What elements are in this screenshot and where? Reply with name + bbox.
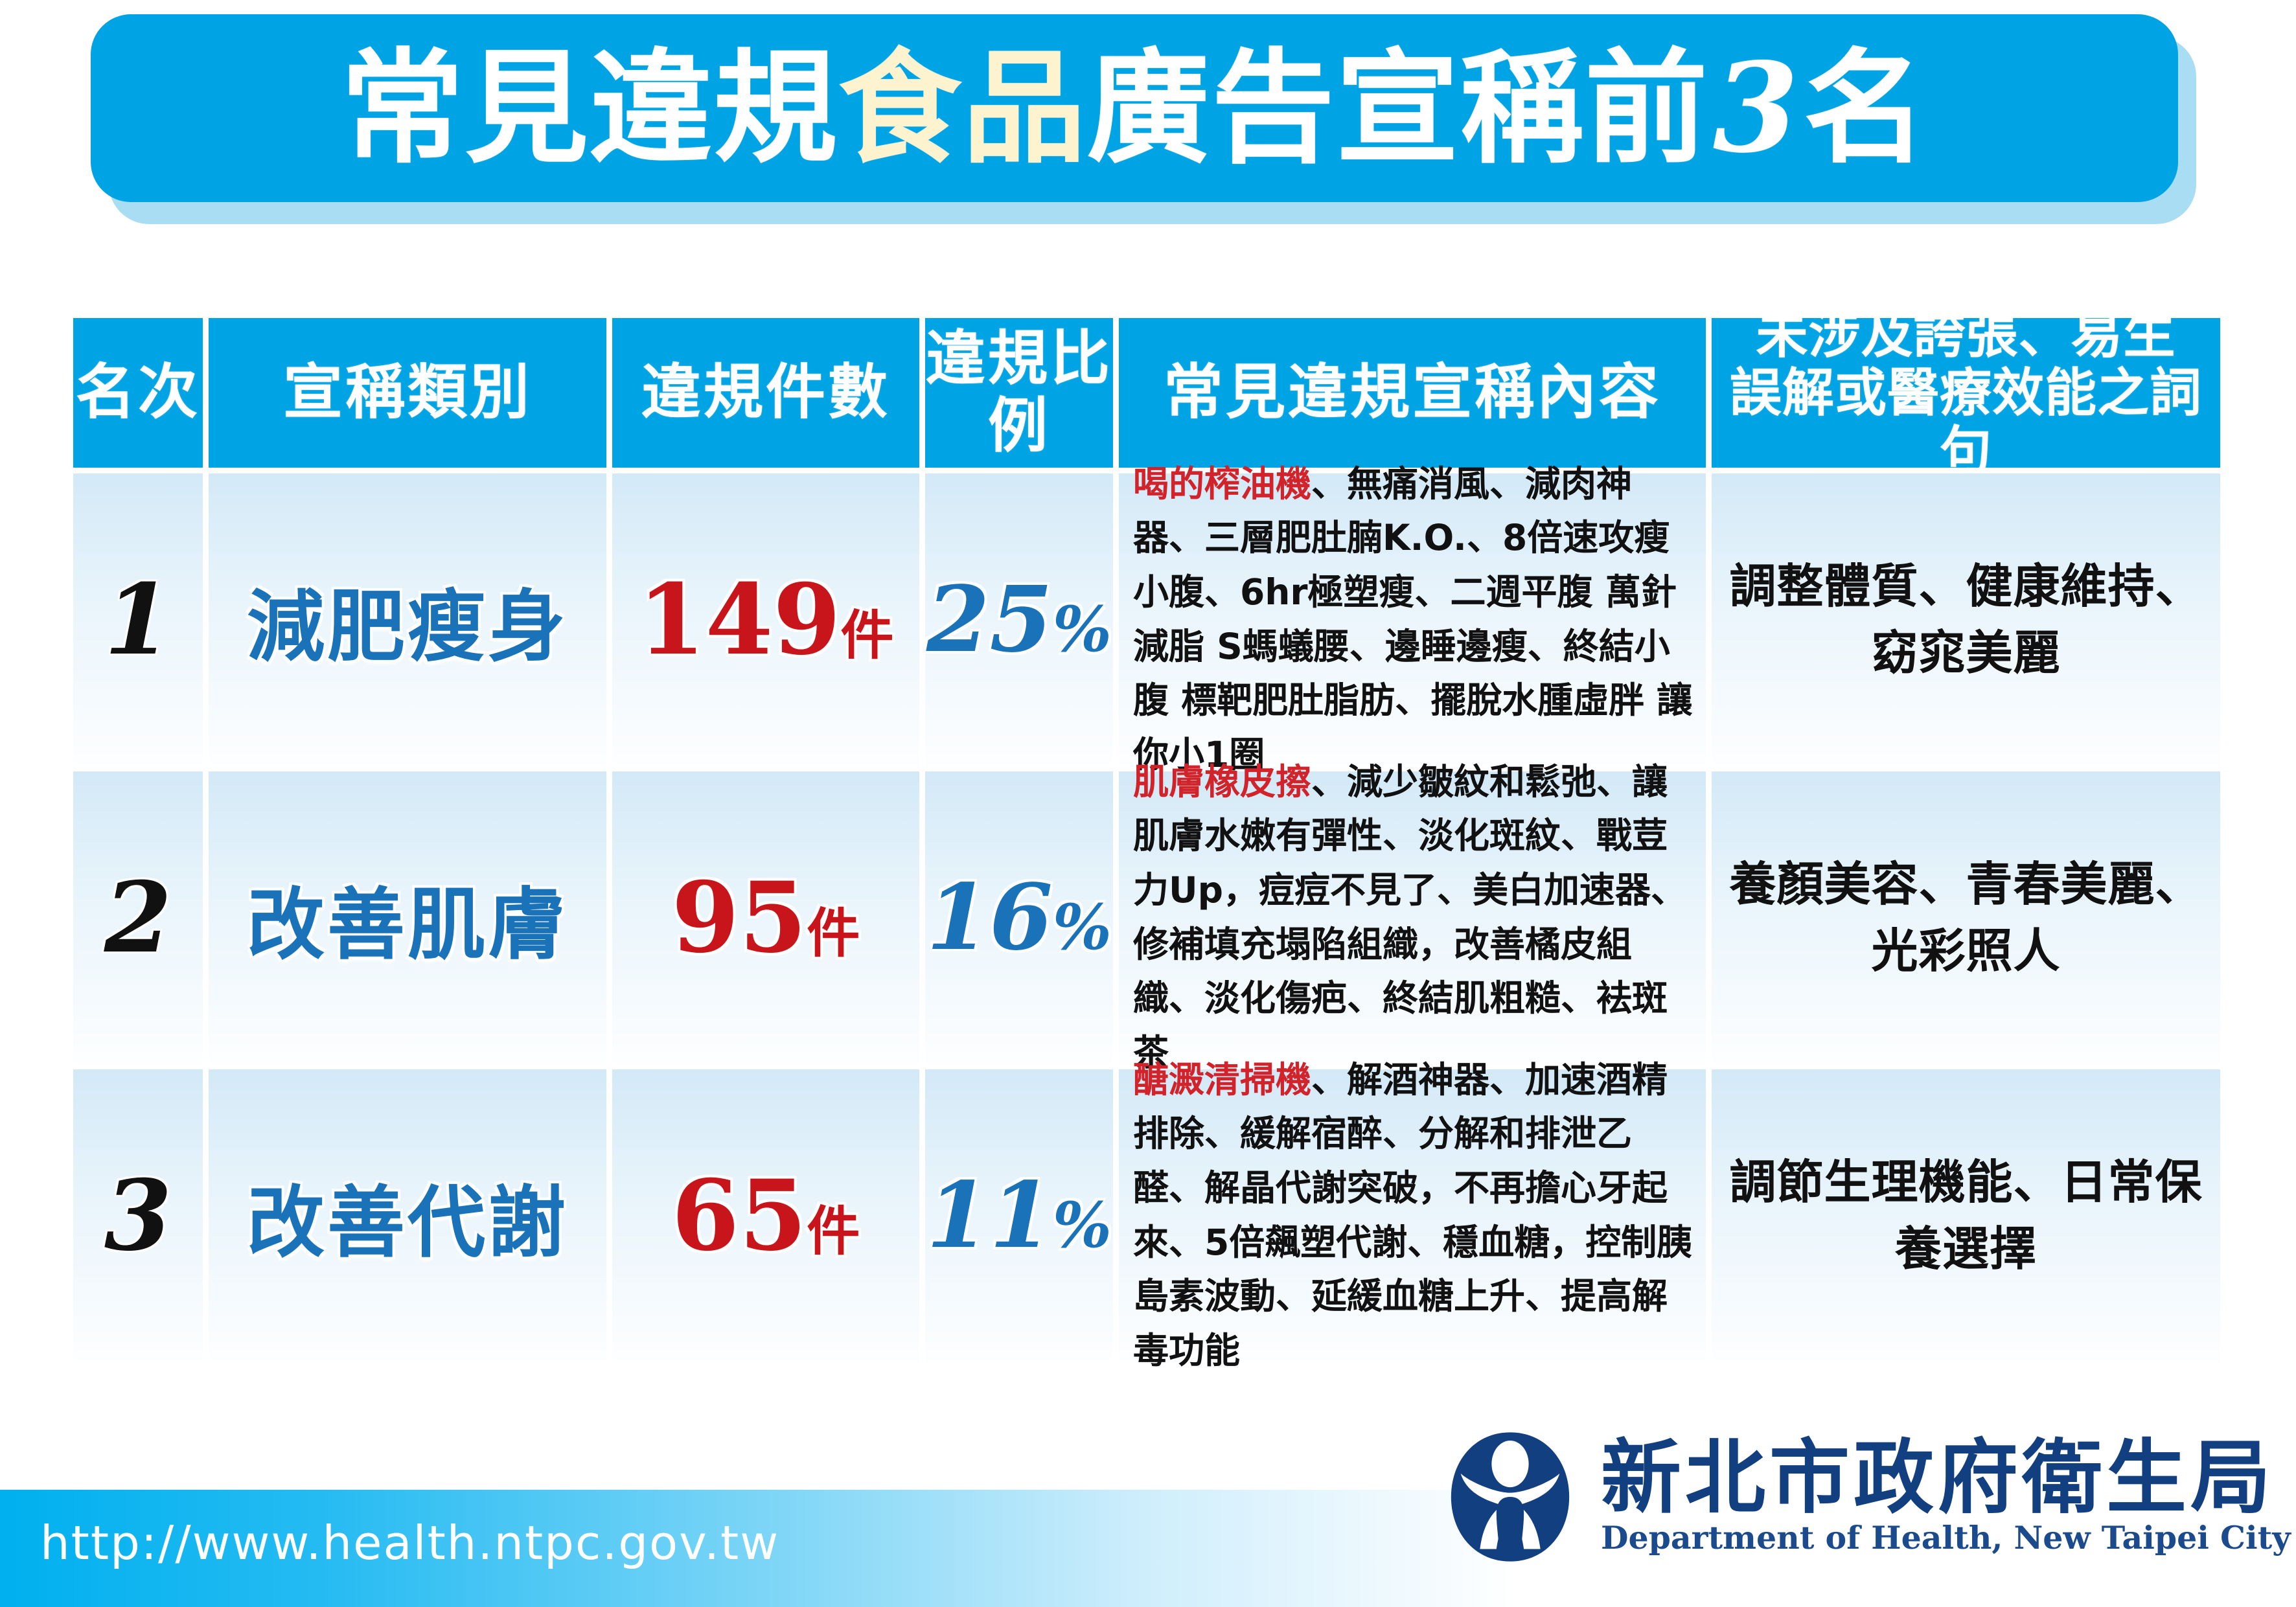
table-header-row: 名次 宣稱類別 違規件數 違規比例 常見違規宣稱內容 未涉及誇張、易生 誤解或醫… (73, 318, 2242, 468)
content-rest: 、無痛消風、減肉神器、三層肥肚腩K.O.、8倍速攻瘦小腹、6hr極塑瘦、二週平腹… (1133, 463, 1692, 775)
category-value: 改善肌膚 (247, 861, 568, 974)
health-department-logo-icon (1441, 1428, 1579, 1566)
table-row: 1 減肥瘦身 149件 25% 喝的榨油機、無痛消風、減肉神器、三層肥肚腩K.O… (73, 473, 2242, 766)
content-text: 醣澱清掃機、解酒神器、加速酒精排除、緩解宿醉、分解和排泄乙醛、解晶代謝突破，不再… (1119, 1049, 1706, 1382)
count-unit: 件 (841, 605, 894, 667)
organization-logo-block: 新北市政府衛生局 Department of Health, New Taipe… (1441, 1428, 2296, 1566)
org-name-chinese: 新北市政府衛生局 (1601, 1438, 2296, 1518)
content-rest: 、減少皺紋和鬆弛、讓肌膚水嫩有彈性、淡化斑紋、戰荳力Up，痘痘不見了、美白加速器… (1133, 761, 1686, 1073)
title-suffix: 名 (1804, 37, 1928, 180)
cell-content: 肌膚橡皮擦、減少皺紋和鬆弛、讓肌膚水嫩有彈性、淡化斑紋、戰荳力Up，痘痘不見了、… (1119, 771, 1706, 1064)
cell-rank: 3 (73, 1069, 203, 1362)
website-url[interactable]: http://www.health.ntpc.gov.tw (40, 1516, 779, 1570)
table-row: 3 改善代謝 65件 11% 醣澱清掃機、解酒神器、加速酒精排除、緩解宿醉、分解… (73, 1069, 2242, 1362)
ratio-value: 16% (926, 865, 1112, 971)
header-allowed-wording: 未涉及誇張、易生 誤解或醫療效能之詞句 (1712, 318, 2220, 468)
ratio-number: 11 (926, 1163, 1053, 1269)
content-text: 喝的榨油機、無痛消風、減肉神器、三層肥肚腩K.O.、8倍速攻瘦小腹、6hr極塑瘦… (1119, 453, 1706, 786)
cell-category: 改善代謝 (209, 1069, 606, 1362)
category-value: 減肥瘦身 (247, 564, 568, 676)
content-highlight: 醣澱清掃機 (1133, 1059, 1311, 1100)
ratio-value: 11% (926, 1163, 1112, 1269)
title-highlight: 食品 (838, 37, 1087, 180)
ratio-number: 16 (926, 865, 1053, 971)
table-row: 2 改善肌膚 95件 16% 肌膚橡皮擦、減少皺紋和鬆弛、讓肌膚水嫩有彈性、淡化… (73, 771, 2242, 1064)
content-highlight: 喝的榨油機 (1133, 463, 1311, 505)
cell-count: 65件 (612, 1069, 919, 1362)
cell-rank: 2 (73, 771, 203, 1064)
cell-allowed-wording: 養顏美容、青春美麗、光彩照人 (1712, 771, 2220, 1064)
header-count-label: 違規件數 (641, 359, 890, 426)
count-number: 65 (672, 1159, 807, 1273)
header-rank-label: 名次 (76, 359, 200, 426)
title-banner: 常見違規食品廣告宣稱前3名 (91, 14, 2178, 202)
rank-value: 3 (104, 1159, 172, 1273)
header-ratio-label: 違規比例 (925, 326, 1113, 459)
cell-ratio: 16% (925, 771, 1113, 1064)
cell-allowed-wording: 調整體質、健康維持、窈窕美麗 (1712, 473, 2220, 766)
rank-value: 1 (104, 563, 172, 677)
content-rest: 、解酒神器、加速酒精排除、緩解宿醉、分解和排泄乙醛、解晶代謝突破，不再擔心牙起來… (1133, 1059, 1692, 1371)
cell-category: 減肥瘦身 (209, 473, 606, 766)
header-allowed-line2: 誤解或醫療效能之詞句 (1712, 364, 2220, 480)
ratio-symbol: % (1053, 1189, 1112, 1262)
cell-rank: 1 (73, 473, 203, 766)
header-content: 常見違規宣稱內容 (1119, 318, 1706, 468)
content-text: 肌膚橡皮擦、減少皺紋和鬆弛、讓肌膚水嫩有彈性、淡化斑紋、戰荳力Up，痘痘不見了、… (1119, 751, 1706, 1084)
count-value: 149件 (637, 563, 893, 677)
count-number: 95 (672, 861, 807, 975)
header-allowed-line1: 未涉及誇張、易生 (1712, 306, 2220, 364)
cell-content: 喝的榨油機、無痛消風、減肉神器、三層肥肚腩K.O.、8倍速攻瘦小腹、6hr極塑瘦… (1119, 473, 1706, 766)
header-ratio: 違規比例 (925, 318, 1113, 468)
cell-count: 95件 (612, 771, 919, 1064)
header-count: 違規件數 (612, 318, 919, 468)
header-content-label: 常見違規宣稱內容 (1164, 359, 1661, 426)
ratio-symbol: % (1053, 593, 1112, 666)
count-value: 95件 (672, 861, 860, 975)
page-title: 常見違規食品廣告宣稱前3名 (341, 47, 1928, 170)
content-highlight: 肌膚橡皮擦 (1133, 761, 1311, 803)
allowed-text: 調整體質、健康維持、窈窕美麗 (1712, 553, 2220, 685)
logo-wordmark: 新北市政府衛生局 Department of Health, New Taipe… (1601, 1438, 2296, 1556)
cell-allowed-wording: 調節生理機能、日常保養選擇 (1712, 1069, 2220, 1362)
cell-ratio: 11% (925, 1069, 1113, 1362)
title-middle: 廣告宣稱前 (1087, 37, 1709, 180)
header-category: 宣稱類別 (209, 318, 606, 468)
count-unit: 件 (807, 903, 860, 964)
header-category-label: 宣稱類別 (283, 359, 532, 426)
allowed-text: 養顏美容、青春美麗、光彩照人 (1712, 851, 2220, 983)
cell-category: 改善肌膚 (209, 771, 606, 1064)
allowed-text: 調節生理機能、日常保養選擇 (1712, 1149, 2220, 1281)
cell-count: 149件 (612, 473, 919, 766)
violations-table: 名次 宣稱類別 違規件數 違規比例 常見違規宣稱內容 未涉及誇張、易生 誤解或醫… (73, 318, 2242, 1362)
cell-content: 醣澱清掃機、解酒神器、加速酒精排除、緩解宿醉、分解和排泄乙醛、解晶代謝突破，不再… (1119, 1069, 1706, 1362)
title-banner-container: 常見違規食品廣告宣稱前3名 (91, 14, 2196, 228)
count-unit: 件 (807, 1201, 860, 1262)
cell-ratio: 25% (925, 473, 1113, 766)
org-name-english: Department of Health, New Taipei City Go… (1601, 1521, 2296, 1556)
header-rank: 名次 (73, 318, 203, 468)
ratio-value: 25% (926, 567, 1112, 673)
count-value: 65件 (672, 1159, 860, 1273)
title-prefix: 常見違規 (341, 37, 838, 180)
count-number: 149 (637, 563, 840, 677)
ratio-symbol: % (1053, 891, 1112, 964)
title-number: 3 (1709, 36, 1804, 180)
ratio-number: 25 (926, 567, 1053, 673)
rank-value: 2 (104, 861, 172, 975)
category-value: 改善代謝 (247, 1159, 568, 1272)
